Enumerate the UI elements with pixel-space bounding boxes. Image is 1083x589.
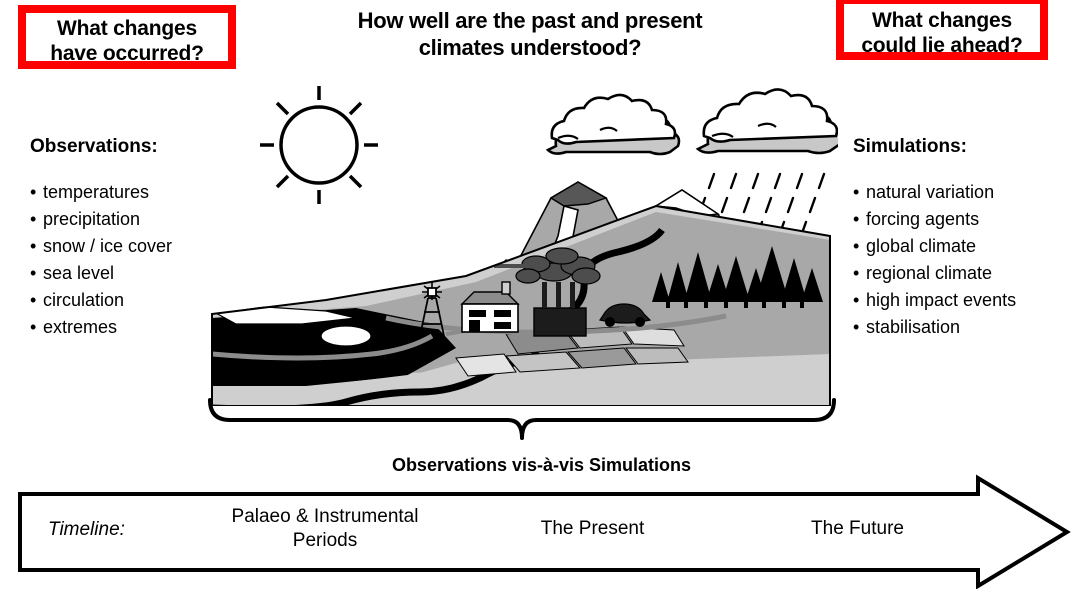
list-item: •natural variation: [853, 179, 1016, 206]
list-item: •extremes: [30, 314, 172, 341]
title-line1: How well are the past and present: [292, 7, 768, 34]
list-item: •global climate: [853, 233, 1016, 260]
bullet-icon: •: [853, 314, 866, 341]
simulations-list: •natural variation •forcing agents •glob…: [853, 179, 1016, 341]
bullet-icon: •: [30, 206, 43, 233]
bullet-icon: •: [853, 287, 866, 314]
list-item: •high impact events: [853, 287, 1016, 314]
sun-icon: [260, 86, 378, 204]
list-item: •forcing agents: [853, 206, 1016, 233]
list-item: •sea level: [30, 260, 172, 287]
bullet-icon: •: [30, 233, 43, 260]
bullet-icon: •: [853, 260, 866, 287]
list-item-label: circulation: [43, 290, 124, 310]
callout-box-future-changes: What changes could lie ahead?: [836, 0, 1048, 60]
list-item-label: forcing agents: [866, 209, 979, 229]
diagram-canvas: What changes have occurred? How well are…: [0, 0, 1083, 589]
callout-box-past-changes: What changes have occurred?: [18, 5, 236, 69]
callout-right-line1: What changes: [844, 8, 1040, 33]
timeline-stage-future: The Future: [740, 517, 975, 541]
list-item: •temperatures: [30, 179, 172, 206]
title-line2: climates understood?: [292, 34, 768, 61]
timeline-stage-palaeo-line2: Periods: [293, 530, 357, 551]
list-item-label: high impact events: [866, 290, 1016, 310]
callout-right-line2: could lie ahead?: [844, 33, 1040, 58]
observations-list: •temperatures •precipitation •snow / ice…: [30, 179, 172, 341]
bullet-icon: •: [853, 233, 866, 260]
list-item: •snow / ice cover: [30, 233, 172, 260]
list-item: •precipitation: [30, 206, 172, 233]
bullet-icon: •: [30, 314, 43, 341]
bullet-icon: •: [30, 179, 43, 206]
climate-landscape-illustration: [206, 86, 838, 406]
timeline-stage-present: The Present: [470, 517, 715, 541]
list-item-label: natural variation: [866, 182, 994, 202]
bullet-icon: •: [30, 260, 43, 287]
bullet-icon: •: [853, 206, 866, 233]
list-item-label: precipitation: [43, 209, 140, 229]
rain-cloud-icon: [698, 89, 838, 153]
bullet-icon: •: [30, 287, 43, 314]
cloud-icon: [548, 95, 679, 154]
simulations-heading: Simulations:: [853, 136, 967, 158]
list-item-label: extremes: [43, 317, 117, 337]
list-item-label: stabilisation: [866, 317, 960, 337]
timeline-stage-palaeo: Palaeo & Instrumental Periods: [185, 505, 465, 553]
list-item-label: snow / ice cover: [43, 236, 172, 256]
timeline-stage-palaeo-line1: Palaeo & Instrumental: [232, 506, 419, 527]
list-item-label: regional climate: [866, 263, 992, 283]
brace-caption: Observations vis-à-vis Simulations: [0, 455, 1083, 476]
page-title: How well are the past and present climat…: [292, 7, 768, 61]
callout-left-line1: What changes: [26, 16, 228, 41]
callout-left-line2: have occurred?: [26, 41, 228, 66]
list-item-label: global climate: [866, 236, 976, 256]
scope-brace: [206, 398, 838, 442]
timeline-label: Timeline:: [48, 518, 178, 542]
list-item: •regional climate: [853, 260, 1016, 287]
list-item: •circulation: [30, 287, 172, 314]
list-item-label: temperatures: [43, 182, 149, 202]
list-item: •stabilisation: [853, 314, 1016, 341]
list-item-label: sea level: [43, 263, 114, 283]
observations-heading: Observations:: [30, 136, 158, 158]
bullet-icon: •: [853, 179, 866, 206]
